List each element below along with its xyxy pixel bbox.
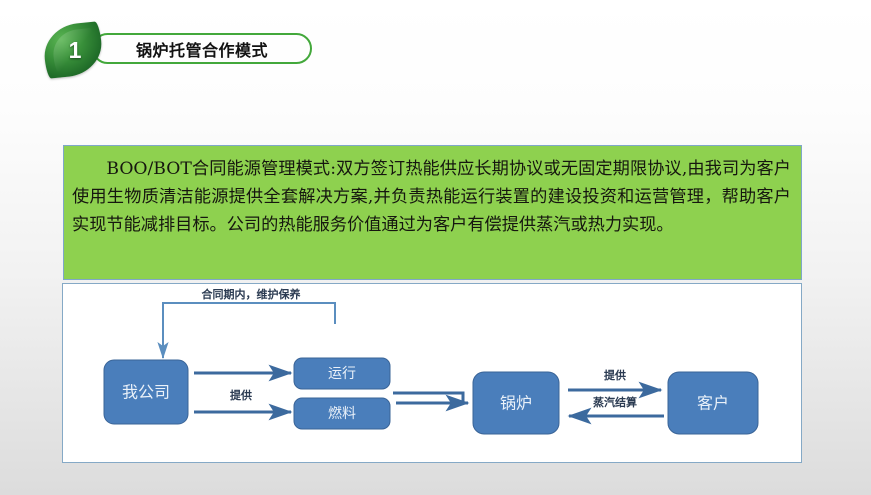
summary-paragraph: BOO/BOT合同能源管理模式:双方签订热能供应长期协议或无固定期限协议,由我司… bbox=[72, 155, 791, 239]
badge-number: 1 bbox=[44, 24, 102, 76]
maintenance-loop-arrow bbox=[163, 303, 335, 358]
summary-box: BOO/BOT合同能源管理模式:双方签订热能供应长期协议或无固定期限协议,由我司… bbox=[63, 145, 802, 280]
edge-label-provide-left: 提供 bbox=[230, 388, 252, 402]
page-title: 锅炉托管合作模式 bbox=[92, 33, 312, 64]
node-customer-label: 客户 bbox=[697, 394, 729, 413]
node-fuel-label: 燃料 bbox=[328, 405, 356, 422]
edge-label-settlement: 蒸汽结算 bbox=[593, 395, 637, 409]
node-operation-label: 运行 bbox=[328, 366, 356, 382]
section-header-badge: 锅炉托管合作模式 1 bbox=[44, 24, 324, 76]
process-diagram: 合同期内，维护保养 我公司 提供 运行 燃料 锅炉 提供 蒸汽结算 客户 bbox=[62, 283, 802, 463]
node-boiler-label: 锅炉 bbox=[500, 394, 532, 413]
node-company-label: 我公司 bbox=[122, 383, 170, 402]
diagram-canvas: 合同期内，维护保养 我公司 提供 运行 燃料 锅炉 提供 蒸汽结算 客户 bbox=[63, 284, 801, 462]
edge-label-maintenance: 合同期内，维护保养 bbox=[202, 287, 302, 301]
edge-label-provide-right: 提供 bbox=[604, 368, 626, 382]
